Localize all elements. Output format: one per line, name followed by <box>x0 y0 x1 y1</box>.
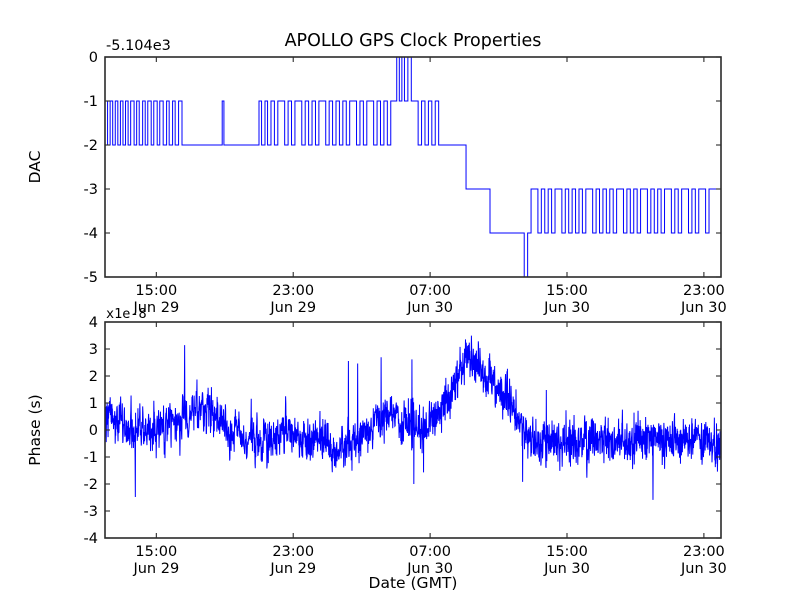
x-tick-label-time: 23:00 <box>272 283 314 299</box>
x-tick-label-date: Jun 29 <box>132 561 179 577</box>
y-tick-label: -5 <box>84 270 98 286</box>
y-tick-label: 3 <box>89 342 98 358</box>
y-tick-label: -1 <box>84 450 98 466</box>
x-tick-label-time: 23:00 <box>272 544 314 560</box>
y-tick-label: -2 <box>84 138 98 154</box>
y-tick-label: -1 <box>84 94 98 110</box>
x-tick-label-date: Jun 30 <box>406 300 453 316</box>
figure-title: APOLLO GPS Clock Properties <box>285 31 542 51</box>
phase-series-group <box>105 336 721 500</box>
x-tick-label-date: Jun 30 <box>543 300 590 316</box>
y-tick-label: -3 <box>84 504 98 520</box>
y-tick-label: 1 <box>89 396 98 412</box>
x-tick-label-date: Jun 30 <box>543 561 590 577</box>
x-tick-label-time: 23:00 <box>683 283 725 299</box>
y-tick-label: -3 <box>84 182 98 198</box>
dac-series-group <box>105 57 719 277</box>
x-tick-label-time: 07:00 <box>409 544 451 560</box>
phase-x-axis-label: Date (GMT) <box>369 574 458 592</box>
figure-canvas: APOLLO GPS Clock Properties -5.104e3 0-1… <box>0 0 800 600</box>
y-tick-label: -4 <box>84 531 98 547</box>
dac-step-series <box>105 57 719 277</box>
y-tick-label: 0 <box>89 50 98 66</box>
x-tick-label-date: Jun 29 <box>269 300 316 316</box>
matplotlib-figure: APOLLO GPS Clock Properties -5.104e3 0-1… <box>0 0 800 600</box>
phase-y-offset-text: x1e-8 <box>106 306 147 322</box>
y-tick-label: -2 <box>84 477 98 493</box>
x-tick-label-date: Jun 30 <box>680 300 727 316</box>
phase-noise-series <box>105 336 721 500</box>
phase-y-axis-label: Phase (s) <box>26 394 44 465</box>
dac-y-axis-label: DAC <box>26 151 44 184</box>
x-tick-label-time: 23:00 <box>683 544 725 560</box>
y-tick-label: 2 <box>89 369 98 385</box>
y-tick-label: 0 <box>89 423 98 439</box>
x-tick-label-date: Jun 29 <box>269 561 316 577</box>
y-tick-label: 4 <box>89 315 98 331</box>
x-tick-label-time: 07:00 <box>409 283 451 299</box>
x-tick-label-time: 15:00 <box>546 283 588 299</box>
x-tick-label-date: Jun 30 <box>680 561 727 577</box>
y-tick-label: -4 <box>84 226 98 242</box>
x-tick-label-time: 15:00 <box>546 544 588 560</box>
dac-tick-group: 0-1-2-3-4-515:00Jun 2923:00Jun 2907:00Ju… <box>84 50 727 316</box>
phase-axes: x1e-8 43210-1-2-3-415:00Jun 2923:00Jun 2… <box>26 306 727 592</box>
dac-axes-frame <box>105 57 721 277</box>
dac-y-offset-text: -5.104e3 <box>106 38 171 54</box>
x-tick-label-time: 15:00 <box>135 544 177 560</box>
x-tick-label-time: 15:00 <box>135 283 177 299</box>
dac-axes: -5.104e3 0-1-2-3-4-515:00Jun 2923:00Jun … <box>26 38 727 316</box>
